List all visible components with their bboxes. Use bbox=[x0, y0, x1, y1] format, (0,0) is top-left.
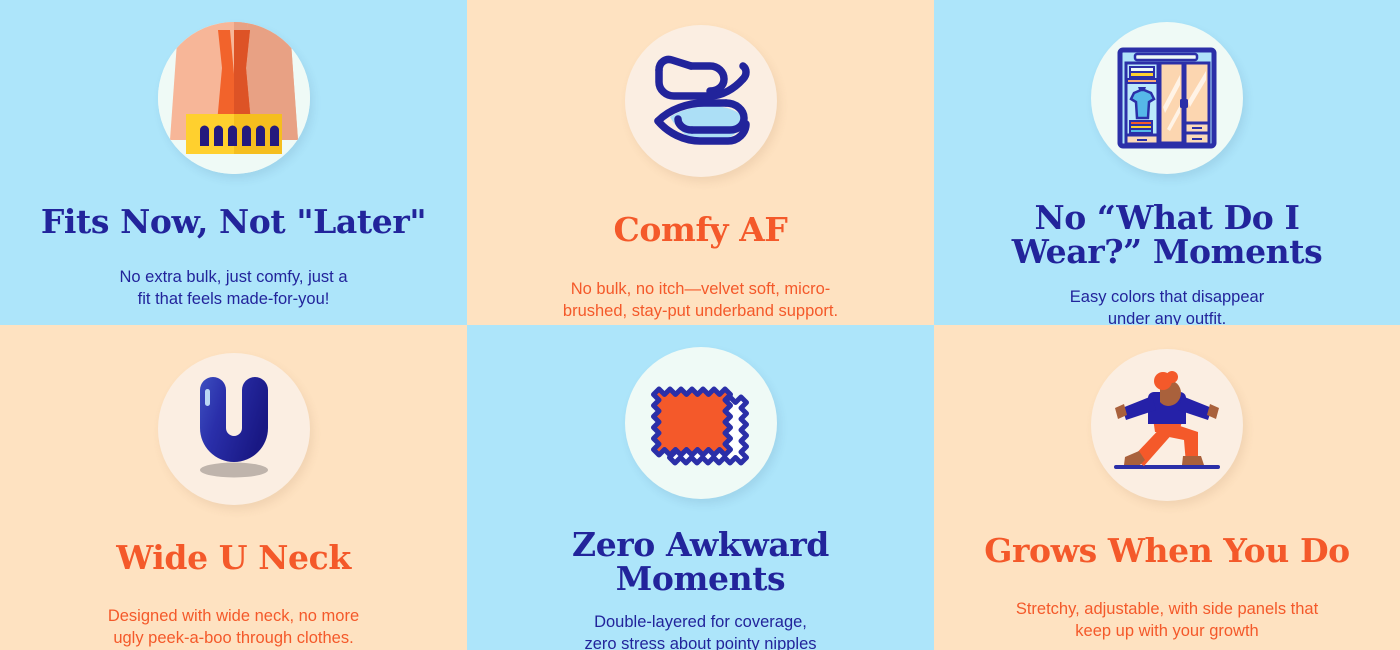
letter-u-icon bbox=[158, 353, 310, 505]
feature-description: Stretchy, adjustable, with side panels t… bbox=[1016, 599, 1318, 643]
feature-description: Easy colors that disappear under any out… bbox=[1070, 287, 1264, 325]
feature-card-zero-awkward-moments: Zero Awkward Moments Double-layered for … bbox=[467, 325, 934, 650]
feature-card-wide-u-neck: Wide U Neck Designed with wide neck, no … bbox=[0, 325, 467, 650]
feature-card-grows-when-you-do: Grows When You Do Stretchy, adjustable, … bbox=[934, 325, 1400, 650]
layered-fabric-icon bbox=[625, 347, 777, 499]
wardrobe-icon bbox=[1091, 22, 1243, 174]
feature-title: Grows When You Do bbox=[984, 534, 1350, 568]
sports-bra-icon bbox=[158, 22, 310, 174]
feature-title: Zero Awkward Moments bbox=[572, 528, 829, 596]
feature-description: No extra bulk, just comfy, just a fit th… bbox=[119, 267, 347, 311]
feature-title: Comfy AF bbox=[614, 213, 788, 247]
feature-title: No “What Do I Wear?” Moments bbox=[1012, 201, 1323, 269]
yoga-warrior-pose-icon bbox=[1091, 349, 1243, 501]
feature-title: Wide U Neck bbox=[116, 541, 351, 575]
feature-description: Double-layered for coverage, zero stress… bbox=[584, 612, 816, 650]
feature-grid: Fits Now, Not "Later" No extra bulk, jus… bbox=[0, 0, 1400, 650]
feature-card-fits-now: Fits Now, Not "Later" No extra bulk, jus… bbox=[0, 0, 467, 325]
caring-hands-icon bbox=[625, 25, 777, 177]
feature-card-comfy-af: Comfy AF No bulk, no itch—velvet soft, m… bbox=[467, 0, 934, 325]
feature-description: Designed with wide neck, no more ugly pe… bbox=[108, 606, 359, 650]
feature-description: No bulk, no itch—velvet soft, micro- bru… bbox=[563, 279, 838, 323]
feature-card-what-do-i-wear: No “What Do I Wear?” Moments Easy colors… bbox=[934, 0, 1400, 325]
feature-title: Fits Now, Not "Later" bbox=[41, 205, 426, 239]
